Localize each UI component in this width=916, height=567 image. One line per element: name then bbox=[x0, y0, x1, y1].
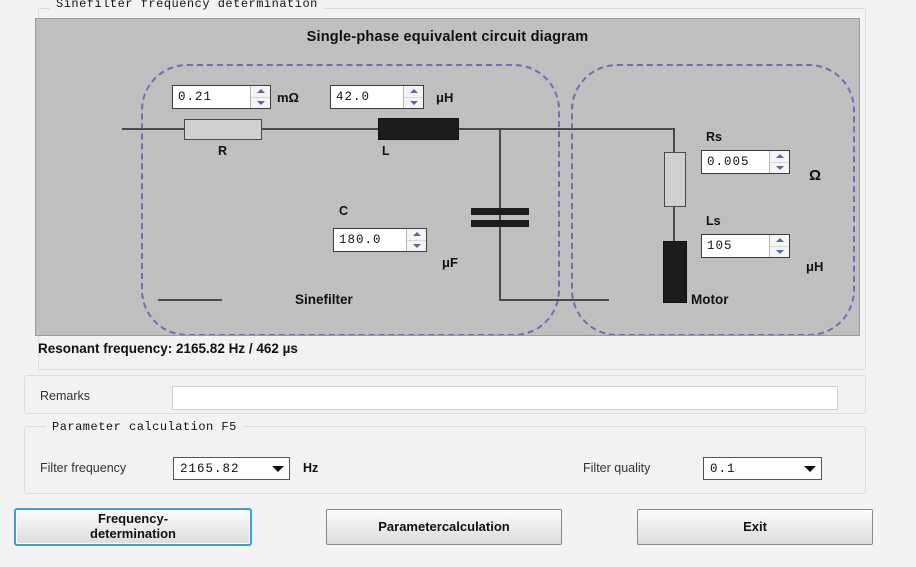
spinner-up-icon-rs[interactable] bbox=[770, 151, 789, 163]
spinner-down-icon-rs[interactable] bbox=[770, 163, 789, 174]
remarks-input[interactable] bbox=[172, 386, 838, 410]
input-c-value[interactable]: 180.0 bbox=[333, 228, 427, 252]
filter-frequency-select[interactable]: 2165.82 bbox=[173, 457, 290, 480]
unit-rs: Ω bbox=[809, 167, 821, 184]
unit-l: μH bbox=[436, 90, 453, 105]
spinner-down-icon-r[interactable] bbox=[251, 98, 270, 109]
unit-c: μF bbox=[442, 255, 458, 270]
frequency-determination-button-label-line1: Frequency- bbox=[90, 512, 176, 527]
spinner-up-icon-c[interactable] bbox=[407, 229, 426, 241]
spinner-rs[interactable] bbox=[769, 151, 789, 173]
spinner-down-icon-c[interactable] bbox=[407, 241, 426, 252]
component-resistor-rs bbox=[664, 152, 686, 207]
component-inductor-ls bbox=[663, 241, 687, 303]
filter-quality-select[interactable]: 0.1 bbox=[703, 457, 822, 480]
spinner-up-icon-l[interactable] bbox=[404, 86, 423, 98]
filter-frequency-label: Filter frequency bbox=[40, 461, 126, 475]
component-inductor-l bbox=[378, 118, 459, 140]
spinner-r[interactable] bbox=[250, 86, 270, 108]
component-capacitor-plate-bottom bbox=[471, 220, 529, 227]
input-ls-value-text[interactable]: 105 bbox=[702, 235, 769, 257]
unit-ls: μH bbox=[806, 259, 823, 274]
input-l-value[interactable]: 42.0 bbox=[330, 85, 424, 109]
component-label-rs: Rs bbox=[706, 130, 722, 144]
label-sinefilter: Sinefilter bbox=[295, 292, 353, 307]
component-label-ls: Ls bbox=[706, 214, 721, 228]
wire-node-to-motor bbox=[499, 128, 674, 130]
spinner-l[interactable] bbox=[403, 86, 423, 108]
spinner-down-icon-l[interactable] bbox=[404, 98, 423, 109]
component-label-c: C bbox=[339, 204, 348, 218]
spinner-down-icon-ls[interactable] bbox=[770, 247, 789, 258]
component-label-l: L bbox=[382, 144, 390, 158]
component-label-r: R bbox=[218, 144, 227, 158]
circuit-diagram-panel: Single-phase equivalent circuit diagram … bbox=[35, 18, 860, 336]
dialog-root: Sinefilter frequency determination Singl… bbox=[0, 0, 916, 567]
spinner-up-icon-ls[interactable] bbox=[770, 235, 789, 247]
chevron-down-icon-filter-frequency[interactable] bbox=[267, 466, 289, 472]
chevron-down-icon-filter-quality[interactable] bbox=[799, 466, 821, 472]
group-legend-sinefilter-frequency-determination: Sinefilter frequency determination bbox=[50, 0, 324, 11]
filter-quality-value[interactable]: 0.1 bbox=[704, 462, 799, 476]
component-capacitor-plate-top bbox=[471, 208, 529, 215]
frequency-determination-button-label-line2: determination bbox=[90, 527, 176, 542]
wire-top-left bbox=[122, 128, 184, 130]
input-l-value-text[interactable]: 42.0 bbox=[331, 86, 403, 108]
spinner-ls[interactable] bbox=[769, 235, 789, 257]
frequency-determination-button[interactable]: Frequency- determination bbox=[14, 508, 252, 546]
filter-frequency-value[interactable]: 2165.82 bbox=[174, 462, 267, 476]
remarks-label: Remarks bbox=[40, 389, 90, 403]
label-motor: Motor bbox=[691, 292, 729, 307]
filter-quality-label: Filter quality bbox=[583, 461, 650, 475]
component-resistor-r bbox=[184, 119, 262, 140]
input-rs-value[interactable]: 0.005 bbox=[701, 150, 790, 174]
wire-ground-stub bbox=[158, 299, 222, 301]
resonant-frequency-readout: Resonant frequency: 2165.82 Hz / 462 µs bbox=[38, 341, 298, 356]
wire-r-to-l bbox=[260, 128, 378, 130]
exit-button[interactable]: Exit bbox=[637, 509, 873, 545]
filter-frequency-unit: Hz bbox=[303, 461, 318, 475]
unit-r: mΩ bbox=[277, 90, 299, 105]
exit-button-label: Exit bbox=[743, 520, 767, 535]
diagram-title: Single-phase equivalent circuit diagram bbox=[36, 29, 859, 45]
group-legend-parameter-calculation: Parameter calculation F5 bbox=[46, 420, 243, 434]
input-ls-value[interactable]: 105 bbox=[701, 234, 790, 258]
input-r-value[interactable]: 0.21 bbox=[172, 85, 271, 109]
input-c-value-text[interactable]: 180.0 bbox=[334, 229, 406, 251]
input-rs-value-text[interactable]: 0.005 bbox=[702, 151, 769, 173]
parameter-calculation-button[interactable]: Parametercalculation bbox=[326, 509, 562, 545]
spinner-c[interactable] bbox=[406, 229, 426, 251]
input-r-value-text[interactable]: 0.21 bbox=[173, 86, 250, 108]
spinner-up-icon-r[interactable] bbox=[251, 86, 270, 98]
parameter-calculation-button-label: Parametercalculation bbox=[378, 520, 510, 535]
wire-bottom-rail bbox=[499, 299, 609, 301]
